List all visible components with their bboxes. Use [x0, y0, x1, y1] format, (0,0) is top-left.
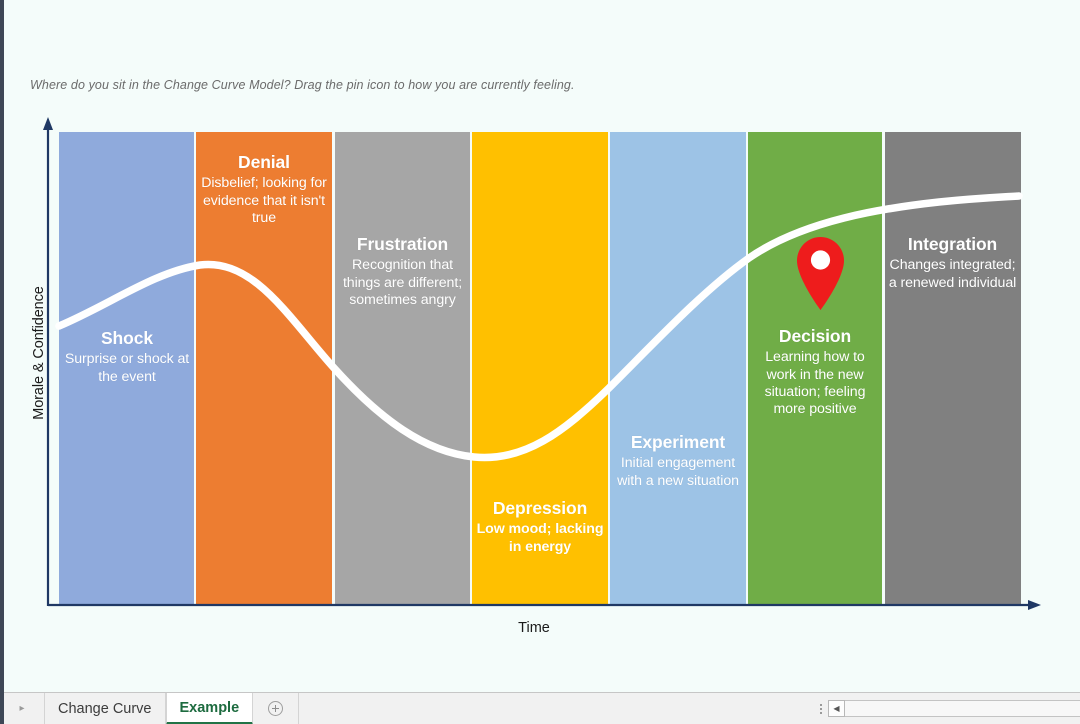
change-curve-chart: Shock Surprise or shock at the event Den… [4, 0, 1080, 660]
stage-title-depression: Depression [474, 498, 606, 519]
plus-circle-icon[interactable] [268, 701, 283, 716]
stage-title-denial: Denial [200, 152, 328, 173]
stage-title-integration: Integration [888, 234, 1017, 255]
stage-body-shock: Surprise or shock at the event [64, 351, 190, 386]
split-grip-handle[interactable] [814, 693, 828, 724]
sheet-tab-bar: ▸ Change Curve Example ◀ [0, 692, 1080, 724]
add-sheet-button[interactable] [253, 693, 299, 724]
stage-body-experiment: Initial engagement with a new situation [608, 455, 748, 490]
stage-body-integration: Changes integrated; a renewed individual [888, 257, 1017, 292]
sheet-tab-label: Example [180, 700, 240, 716]
x-axis-title: Time [4, 620, 1064, 636]
workbook-window: Where do you sit in the Change Curve Mod… [0, 0, 1080, 724]
sheet-tab-label: Change Curve [58, 701, 152, 717]
stage-label-experiment: Experiment Initial engagement with a new… [608, 432, 748, 490]
tab-bar-spacer [299, 693, 814, 724]
stage-body-denial: Disbelief; looking for evidence that it … [200, 175, 328, 227]
stage-label-shock: Shock Surprise or shock at the event [64, 328, 190, 386]
stage-body-decision: Learning how to work in the new situatio… [750, 349, 880, 418]
stage-label-decision: Decision Learning how to work in the new… [750, 326, 880, 419]
chevron-right-icon[interactable]: ▸ [19, 703, 24, 714]
sheet-nav-buttons[interactable]: ▸ [0, 693, 44, 724]
horizontal-scroll-track[interactable] [845, 700, 1080, 717]
y-axis-title: Morale & Confidence [31, 263, 47, 443]
sheet-tab-change-curve[interactable]: Change Curve [44, 693, 166, 724]
sheet-tab-example[interactable]: Example [166, 693, 254, 724]
stage-label-depression: Depression Low mood; lacking in energy [474, 498, 606, 556]
stage-body-depression: Low mood; lacking in energy [474, 521, 606, 556]
stage-title-experiment: Experiment [608, 432, 748, 453]
horizontal-scrollbar[interactable]: ◀ [828, 693, 1080, 724]
vertical-dots-icon[interactable] [820, 704, 822, 714]
stage-body-frustration: Recognition that things are different; s… [338, 257, 467, 309]
stage-label-integration: Integration Changes integrated; a renewe… [888, 234, 1017, 292]
triangle-left-icon[interactable]: ◀ [828, 700, 845, 717]
stage-label-frustration: Frustration Recognition that things are … [338, 234, 467, 309]
stage-label-denial: Denial Disbelief; looking for evidence t… [200, 152, 328, 227]
stage-title-frustration: Frustration [338, 234, 467, 255]
stage-title-decision: Decision [750, 326, 880, 347]
stage-title-shock: Shock [64, 328, 190, 349]
stage-band-frustration [335, 132, 470, 604]
